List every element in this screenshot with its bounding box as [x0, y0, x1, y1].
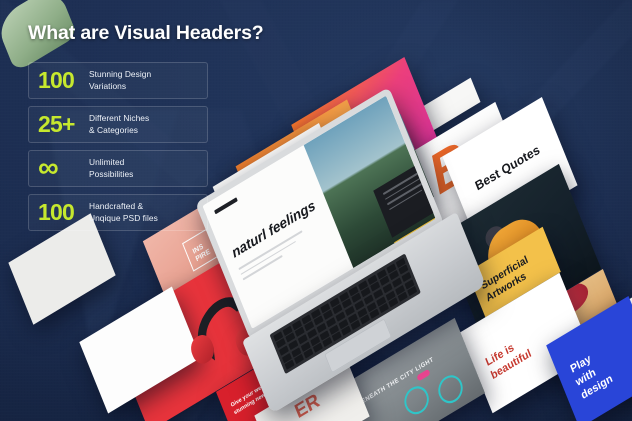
infinity-icon: ∞ — [38, 157, 89, 180]
play-with-design-label: Play with design — [569, 346, 615, 403]
feature-label: Unlimited Possibilities — [89, 157, 133, 180]
page-title: What are Visual Headers? — [28, 22, 208, 45]
feature-number: 100 — [38, 201, 89, 224]
feature-box-handcrafted: 100 Handcrafted & Unqique PSD files — [28, 194, 208, 231]
feature-box-variations: 100 Stunning Design Variations — [28, 62, 208, 99]
feature-list: 100 Stunning Design Variations 25+ Diffe… — [28, 62, 208, 231]
feature-label: Different Niches & Categories — [89, 113, 149, 136]
feature-label: Stunning Design Variations — [89, 69, 151, 92]
feature-label: Handcrafted & Unqique PSD files — [89, 201, 158, 224]
life-is-beautiful-label: Life is beautiful — [484, 334, 534, 383]
promo-canvas: B Best Quotes Superficial Artworks Life … — [0, 0, 632, 421]
bicycle-wheel-rear — [401, 381, 433, 419]
bicycle-wheel-front — [434, 370, 466, 408]
bicycle-seat — [416, 369, 430, 382]
feature-number: 25+ — [38, 113, 89, 136]
screen-logo — [214, 197, 238, 214]
feature-box-niches: 25+ Different Niches & Categories — [28, 106, 208, 143]
info-column: What are Visual Headers? 100 Stunning De… — [28, 22, 208, 231]
feature-box-unlimited: ∞ Unlimited Possibilities — [28, 150, 208, 187]
feature-number: 100 — [38, 69, 89, 92]
